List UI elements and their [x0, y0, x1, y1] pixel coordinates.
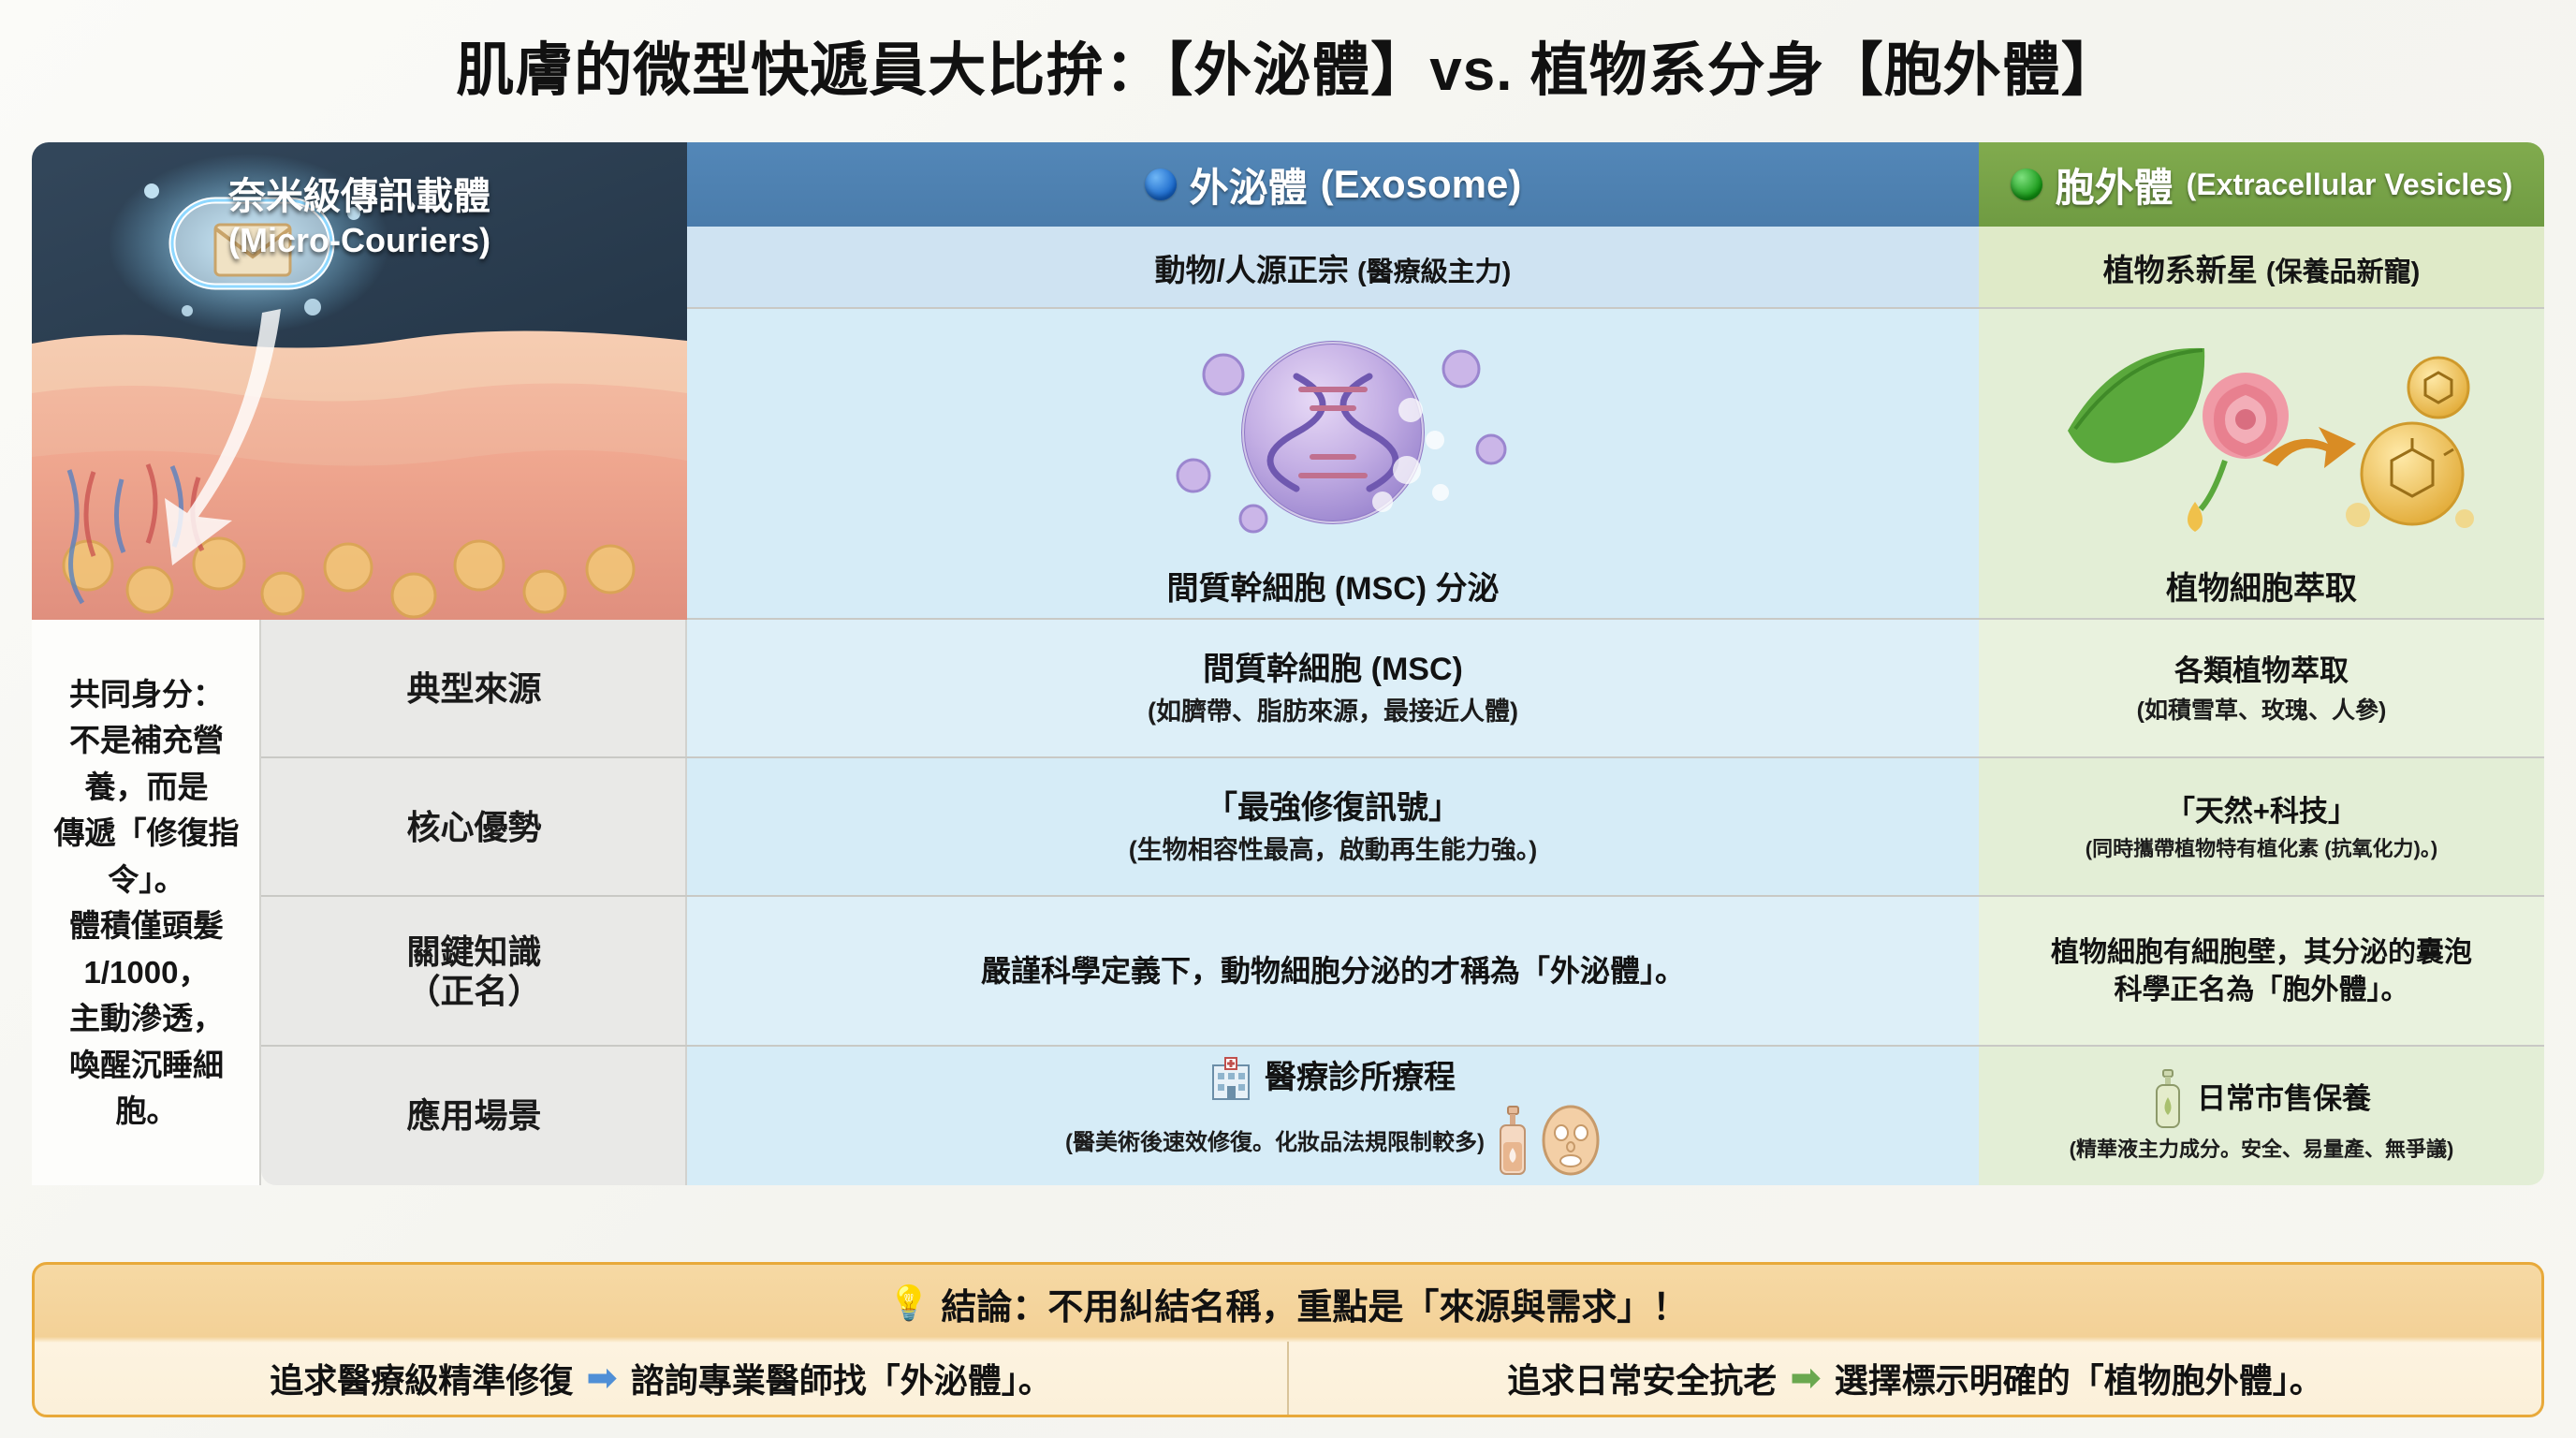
ev-subtitle-paren: (保養品新寵) [2266, 257, 2420, 287]
exosome-illustration-caption: 間質幹細胞 (MSC) 分泌 [1166, 569, 1499, 610]
recommendation-row: 追求醫療級精準修復 ➡ 諮詢專業醫師找「外泌體」。 追求日常安全抗老 ➡ 選擇標… [35, 1342, 2541, 1415]
ev-illustration-cell: 植物細胞萃取 [1979, 309, 2544, 620]
row-label-advantage: 核心優勢 [261, 758, 687, 897]
row-label-knowledge: 關鍵知識 （正名） [261, 897, 687, 1047]
exosome-header-zh: 外泌體 [1190, 156, 1308, 213]
exosome-knowledge-text: 嚴謹科學定義下，動物細胞分泌的才稱為「外泌體」。 [964, 951, 1702, 991]
ev-application-sub: (精華液主力成分。安全、易量產、無爭議) [2070, 1137, 2454, 1164]
ev-illustration-caption: 植物細胞萃取 [2166, 569, 2357, 610]
left-panel-title-en: (Micro-Couriers) [32, 220, 687, 261]
ev-knowledge-text: 植物細胞有細胞壁，其分泌的囊泡 科學正名為「胞外體」。 [2034, 934, 2489, 1010]
exosome-application-sub: (醫美術後速效修復。化妝品法規限制較多) [1065, 1128, 1485, 1157]
shared-identity-cell: 共同身分： 不是補充營養，而是 傳遞「修復指令」。 體積僅頭髮 1/1000， … [32, 620, 261, 1185]
exosome-illustration-cell: 間質幹細胞 (MSC) 分泌 [687, 309, 1979, 620]
infographic-page: 肌膚的微型快遞員大比拚：【外泌體】vs. 植物系分身【胞外體】 奈米級傳訊載體 … [0, 0, 2576, 1438]
conclusion-footer: 💡 結論：不用糾結名稱，重點是「來源與需求」！ 追求醫療級精準修復 ➡ 諮詢專業… [32, 1262, 2544, 1417]
row-label-application: 應用場景 [261, 1047, 687, 1185]
ev-header-en: (Extracellular Vesicles) [2187, 168, 2513, 202]
left-illustration-panel: 奈米級傳訊載體 (Micro-Couriers) [32, 142, 687, 620]
lightbulb-icon: 💡 [888, 1284, 930, 1323]
green-circle-icon [2011, 169, 2042, 200]
exosome-column-header: 外泌體 (Exosome) [687, 142, 1979, 227]
row-label-source-text: 典型來源 [406, 669, 541, 709]
recommendation-medical-before: 追求醫療級精準修復 [270, 1354, 573, 1402]
exosome-header-en: (Exosome) [1321, 162, 1522, 207]
blue-circle-icon [1145, 169, 1177, 200]
conclusion-row: 💡 結論：不用糾結名稱，重點是「來源與需求」！ [35, 1265, 2541, 1342]
hospital-icon [1210, 1056, 1251, 1101]
exosome-subtitle-paren: (醫療級主力) [1357, 257, 1511, 287]
ev-advantage-cell: 「天然+科技」 (同時攜帶植物特有植化素 (抗氧化力)。) [1979, 758, 2544, 897]
rose-leaf-golden-molecule-icon [2042, 318, 2481, 552]
comparison-table: 奈米級傳訊載體 (Micro-Couriers) [32, 142, 2544, 1247]
ev-column-header: 胞外體 (Extracellular Vesicles) [1979, 142, 2544, 227]
exosome-subtitle-main: 動物/人源正宗 [1155, 253, 1349, 287]
exosome-source-main: 間質幹細胞 (MSC) [1203, 650, 1463, 691]
ev-application-main: 日常市售保養 [2197, 1080, 2371, 1118]
shared-identity-text: 共同身分： 不是補充營養，而是 傳遞「修復指令」。 體積僅頭髮 1/1000， … [32, 671, 261, 1135]
page-title: 肌膚的微型快遞員大比拚：【外泌體】vs. 植物系分身【胞外體】 [0, 22, 2576, 107]
arrow-right-green-icon: ➡ [1790, 1359, 1822, 1397]
row-label-source: 典型來源 [261, 620, 687, 758]
exosome-source-cell: 間質幹細胞 (MSC) (如臍帶、脂肪來源，最接近人體) [687, 620, 1979, 758]
exosome-knowledge-cell: 嚴謹科學定義下，動物細胞分泌的才稱為「外泌體」。 [687, 897, 1979, 1047]
ev-source-cell: 各類植物萃取 (如積雪草、玫瑰、人參) [1979, 620, 2544, 758]
recommendation-daily-after: 選擇標示明確的「植物胞外體」。 [1835, 1354, 2323, 1402]
ev-application-cell: 日常市售保養 (精華液主力成分。安全、易量產、無爭議) [1979, 1047, 2544, 1185]
recommendation-daily: 追求日常安全抗老 ➡ 選擇標示明確的「植物胞外體」。 [1287, 1342, 2541, 1415]
ev-header-zh: 胞外體 [2056, 156, 2173, 213]
ev-source-sub: (如積雪草、玫瑰、人參) [2137, 696, 2387, 726]
exosome-application-cell: 醫療診所療程 (醫美術後速效修復。化妝品法規限制較多) [687, 1047, 1979, 1185]
conclusion-text: 結論：不用糾結名稱，重點是「來源與需求」！ [941, 1278, 1688, 1329]
lotion-bottle-icon [2152, 1069, 2184, 1129]
row-label-knowledge-text: 關鍵知識 （正名） [406, 932, 541, 1012]
recommendation-medical-after: 諮詢專業醫師找「外泌體」。 [631, 1354, 1052, 1402]
ev-knowledge-cell: 植物細胞有細胞壁，其分泌的囊泡 科學正名為「胞外體」。 [1979, 897, 2544, 1047]
sheet-mask-icon [1541, 1105, 1601, 1176]
recommendation-medical: 追求醫療級精準修復 ➡ 諮詢專業醫師找「外泌體」。 [35, 1342, 1287, 1415]
exosome-advantage-cell: 「最強修復訊號」 (生物相容性最高，啟動再生能力強。) [687, 758, 1979, 897]
exosome-advantage-sub: (生物相容性最高，啟動再生能力強。) [1129, 834, 1537, 867]
exosome-application-main: 醫療診所療程 [1265, 1058, 1456, 1099]
ev-advantage-sub: (同時攜帶植物特有植化素 (抗氧化力)。) [2086, 836, 2437, 863]
row-label-application-text: 應用場景 [406, 1096, 541, 1136]
arrow-right-blue-icon: ➡ [586, 1359, 618, 1397]
exosome-source-sub: (如臍帶、脂肪來源，最接近人體) [1148, 696, 1518, 728]
ev-subtitle-cell: 植物系新星 (保養品新寵) [1979, 227, 2544, 309]
dna-cell-vesicle-icon [1113, 318, 1553, 552]
exosome-subtitle-cell: 動物/人源正宗 (醫療級主力) [687, 227, 1979, 309]
exosome-advantage-main: 「最強修復訊號」 [1206, 788, 1460, 829]
row-label-advantage-text: 核心優勢 [406, 808, 541, 847]
serum-bottle-icon [1496, 1105, 1529, 1176]
ev-subtitle-main: 植物系新星 [2103, 253, 2258, 287]
recommendation-daily-before: 追求日常安全抗老 [1507, 1354, 1777, 1402]
ev-advantage-main: 「天然+科技」 [2166, 793, 2357, 830]
ev-source-main: 各類植物萃取 [2174, 653, 2349, 690]
left-panel-title: 奈米級傳訊載體 (Micro-Couriers) [32, 174, 687, 261]
left-panel-title-zh: 奈米級傳訊載體 [32, 174, 687, 220]
